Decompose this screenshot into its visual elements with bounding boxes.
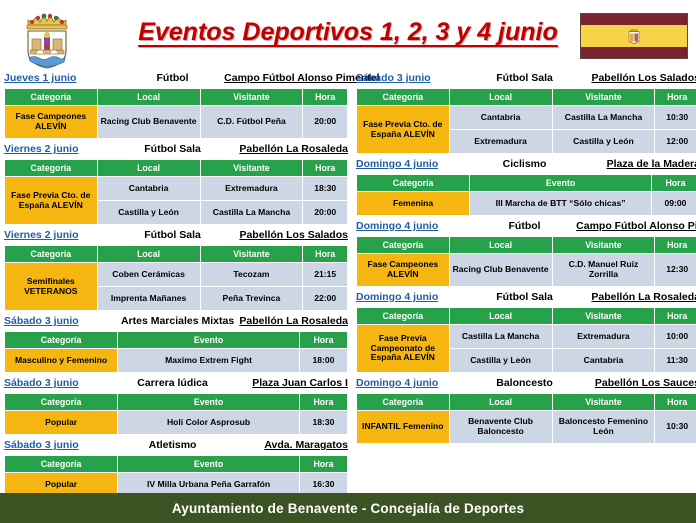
- section-date[interactable]: Domingo 4 junio: [356, 375, 473, 392]
- column-header-local: Local: [97, 160, 200, 177]
- table-header-row: CategoríaLocalVisitanteHora: [357, 308, 696, 325]
- section-sport: Fútbol Sala: [473, 70, 576, 87]
- poster-page: Eventos Deportivos 1, 2, 3 y 4 junio Jue…: [0, 0, 696, 523]
- column-header-categoria: Categoría: [357, 308, 450, 325]
- hora-cell: 20:00: [303, 106, 348, 139]
- table-header-row: CategoríaEventoHora: [5, 456, 348, 473]
- left-column: Jueves 1 junioFútbolCampo Fútbol Alonso …: [4, 70, 352, 499]
- section-venue[interactable]: Pabellón Los Salados: [224, 227, 348, 244]
- event-section: Domingo 4 junioFútbol SalaPabellón La Ro…: [356, 289, 696, 373]
- column-header-local: Local: [449, 394, 552, 411]
- column-header-categoria: Categoría: [5, 89, 98, 106]
- section-venue[interactable]: Pabellón Los Salados: [576, 70, 696, 87]
- visitante-cell: C.D. Manuel Ruiz Zorrilla: [552, 254, 655, 287]
- section-venue[interactable]: Pabellón La Rosaleda: [224, 141, 348, 158]
- table-header-row: CategoríaLocalVisitanteHora: [5, 160, 348, 177]
- column-header-categoria: Categoría: [357, 175, 470, 192]
- column-header-hora: Hora: [299, 456, 347, 473]
- section-sport: Fútbol: [121, 70, 224, 87]
- event-section: Sábado 3 junioAtletismoAvda. MaragatosCa…: [4, 437, 348, 497]
- event-table: CategoríaEventoHoraFemeninaIII Marcha de…: [356, 174, 696, 216]
- flag-band-red-bottom: [581, 47, 687, 58]
- section-header: Domingo 4 junioCiclismoPlaza de la Mader…: [356, 156, 696, 173]
- local-cell: Coben Cerámicas: [97, 263, 200, 287]
- event-table: CategoríaLocalVisitanteHoraFase Previa C…: [356, 88, 696, 154]
- poster-title: Eventos Deportivos 1, 2, 3 y 4 junio: [138, 18, 558, 47]
- visitante-cell: Cantabria: [552, 349, 655, 373]
- section-venue[interactable]: Campo Fútbol Alonso Pimentel: [224, 70, 348, 87]
- local-cell: Cantabria: [449, 106, 552, 130]
- column-header-hora: Hora: [299, 332, 347, 349]
- section-date[interactable]: Sábado 3 junio: [4, 375, 121, 392]
- section-header: Viernes 2 junioFútbol SalaPabellón La Ro…: [4, 141, 348, 158]
- hora-cell: 12:00: [655, 130, 696, 154]
- table-row: Fase Previa Cto. de España ALEVÍNCantabr…: [5, 177, 348, 201]
- poster-footer: Ayuntamiento de Benavente - Concejalía d…: [0, 493, 696, 523]
- column-header-hora: Hora: [303, 246, 348, 263]
- category-cell: INFANTIL Femenino: [357, 411, 450, 444]
- local-cell: Racing Club Benavente: [449, 254, 552, 287]
- section-header: Sábado 3 junioCarrera lúdicaPlaza Juan C…: [4, 375, 348, 392]
- spain-flag-icon: [580, 13, 688, 59]
- column-header-visitante: Visitante: [552, 237, 655, 254]
- event-section: Domingo 4 junioCiclismoPlaza de la Mader…: [356, 156, 696, 216]
- column-header-local: Local: [449, 308, 552, 325]
- column-header-visitante: Visitante: [552, 308, 655, 325]
- column-header-local: Local: [449, 237, 552, 254]
- column-header-categoria: Categoría: [357, 89, 450, 106]
- column-header-evento: Evento: [470, 175, 652, 192]
- section-header: Domingo 4 junioBaloncestoPabellón Los Sa…: [356, 375, 696, 392]
- section-header: Sábado 3 junioArtes Marciales MixtasPabe…: [4, 313, 348, 330]
- column-header-evento: Evento: [118, 332, 300, 349]
- section-header: Viernes 2 junioFútbol SalaPabellón Los S…: [4, 227, 348, 244]
- column-header-hora: Hora: [303, 160, 348, 177]
- column-header-visitante: Visitante: [200, 89, 303, 106]
- event-section: Jueves 1 junioFútbolCampo Fútbol Alonso …: [4, 70, 348, 139]
- section-header: Domingo 4 junioFútbolCampo Fútbol Alonso…: [356, 218, 696, 235]
- category-cell: Masculino y Femenino: [5, 349, 118, 373]
- local-cell: Extremadura: [449, 130, 552, 154]
- section-sport: Fútbol Sala: [121, 141, 224, 158]
- visitante-cell: Castilla La Mancha: [200, 201, 303, 225]
- category-cell: Fase Campeones ALEVÍN: [5, 106, 98, 139]
- footer-text: Ayuntamiento de Benavente - Concejalía d…: [172, 501, 524, 516]
- category-cell: Fase Previa Campeonato de España ALEVÍN: [357, 325, 450, 373]
- hora-cell: 18:30: [303, 177, 348, 201]
- table-row: Semifinales VETERANOSCoben CerámicasTeco…: [5, 263, 348, 287]
- event-table: CategoríaLocalVisitanteHoraFase Previa C…: [356, 307, 696, 373]
- section-sport: Atletismo: [121, 437, 224, 454]
- category-cell: Femenina: [357, 192, 470, 216]
- section-header: Jueves 1 junioFútbolCampo Fútbol Alonso …: [4, 70, 348, 87]
- hora-cell: 21:15: [303, 263, 348, 287]
- hora-cell: 10:00: [655, 325, 696, 349]
- section-date[interactable]: Domingo 4 junio: [356, 156, 473, 173]
- section-date[interactable]: Domingo 4 junio: [356, 289, 473, 306]
- visitante-cell: C.D. Fútbol Peña: [200, 106, 303, 139]
- event-table: CategoríaLocalVisitanteHoraFase Previa C…: [4, 159, 348, 225]
- visitante-cell: Peña Trevinca: [200, 287, 303, 311]
- event-table: CategoríaEventoHoraMasculino y FemeninoM…: [4, 331, 348, 373]
- section-header: Sábado 3 junioFútbol SalaPabellón Los Sa…: [356, 70, 696, 87]
- evento-cell: III Marcha de BTT “Sólo chicas”: [470, 192, 652, 216]
- event-section: Viernes 2 junioFútbol SalaPabellón Los S…: [4, 227, 348, 311]
- right-column: Sábado 3 junioFútbol SalaPabellón Los Sa…: [352, 70, 696, 499]
- event-section: Domingo 4 junioBaloncestoPabellón Los Sa…: [356, 375, 696, 444]
- section-venue[interactable]: Plaza de la Madera: [576, 156, 696, 173]
- table-header-row: CategoríaEventoHora: [357, 175, 696, 192]
- local-cell: Cantabria: [97, 177, 200, 201]
- column-header-hora: Hora: [303, 89, 348, 106]
- visitante-cell: Castilla La Mancha: [552, 106, 655, 130]
- visitante-cell: Tecozam: [200, 263, 303, 287]
- event-table: CategoríaEventoHoraPopularIV Milla Urban…: [4, 455, 348, 497]
- event-table: CategoríaLocalVisitanteHoraFase Campeone…: [4, 88, 348, 139]
- section-header: Domingo 4 junioFútbol SalaPabellón La Ro…: [356, 289, 696, 306]
- poster-columns: Jueves 1 junioFútbolCampo Fútbol Alonso …: [0, 70, 696, 499]
- visitante-cell: Castilla y León: [552, 130, 655, 154]
- table-header-row: CategoríaEventoHora: [5, 332, 348, 349]
- table-header-row: CategoríaLocalVisitanteHora: [5, 89, 348, 106]
- column-header-evento: Evento: [118, 394, 300, 411]
- hora-cell: 09:00: [651, 192, 696, 216]
- section-sport: Carrera lúdica: [121, 375, 224, 392]
- table-row: Fase Campeones ALEVÍNRacing Club Benaven…: [357, 254, 696, 287]
- table-row: Fase Previa Cto. de España ALEVÍNCantabr…: [357, 106, 696, 130]
- evento-cell: Holi Color Asprosub: [118, 411, 300, 435]
- event-table: CategoríaEventoHoraPopularHoli Color Asp…: [4, 393, 348, 435]
- hora-cell: 22:00: [303, 287, 348, 311]
- table-row: INFANTIL FemeninoBenavente Club Balonces…: [357, 411, 696, 444]
- visitante-cell: Extremadura: [552, 325, 655, 349]
- section-date[interactable]: Viernes 2 junio: [4, 141, 121, 158]
- column-header-hora: Hora: [655, 394, 696, 411]
- event-section: Sábado 3 junioArtes Marciales MixtasPabe…: [4, 313, 348, 373]
- table-row: Fase Campeones ALEVÍNRacing Club Benaven…: [5, 106, 348, 139]
- section-venue[interactable]: Pabellón La Rosaleda: [224, 313, 348, 330]
- section-date[interactable]: Sábado 3 junio: [4, 437, 121, 454]
- flag-band-yellow: [581, 25, 687, 47]
- column-header-local: Local: [449, 89, 552, 106]
- column-header-hora: Hora: [655, 89, 696, 106]
- table-header-row: CategoríaLocalVisitanteHora: [357, 237, 696, 254]
- section-sport: Artes Marciales Mixtas: [121, 313, 224, 330]
- event-section: Viernes 2 junioFútbol SalaPabellón La Ro…: [4, 141, 348, 225]
- section-date[interactable]: Sábado 3 junio: [4, 313, 121, 330]
- section-sport: Fútbol: [473, 218, 576, 235]
- category-cell: Semifinales VETERANOS: [5, 263, 98, 311]
- local-cell: Imprenta Mañanes: [97, 287, 200, 311]
- column-header-visitante: Visitante: [552, 394, 655, 411]
- event-section: Sábado 3 junioFútbol SalaPabellón Los Sa…: [356, 70, 696, 154]
- section-sport: Fútbol Sala: [473, 289, 576, 306]
- section-venue[interactable]: Plaza Juan Carlos I: [224, 375, 348, 392]
- category-cell: Fase Previa Cto. de España ALEVÍN: [5, 177, 98, 225]
- column-header-visitante: Visitante: [200, 160, 303, 177]
- event-table: CategoríaLocalVisitanteHoraINFANTIL Feme…: [356, 393, 696, 444]
- section-sport: Baloncesto: [473, 375, 576, 392]
- section-header: Sábado 3 junioAtletismoAvda. Maragatos: [4, 437, 348, 454]
- column-header-local: Local: [97, 246, 200, 263]
- column-header-visitante: Visitante: [200, 246, 303, 263]
- hora-cell: 18:30: [299, 411, 347, 435]
- local-cell: Castilla y León: [449, 349, 552, 373]
- event-table: CategoríaLocalVisitanteHoraSemifinales V…: [4, 245, 348, 311]
- section-venue[interactable]: Campo Fútbol Alonso Pimentel: [576, 218, 696, 235]
- table-header-row: CategoríaEventoHora: [5, 394, 348, 411]
- local-cell: Racing Club Benavente: [97, 106, 200, 139]
- table-row: FemeninaIII Marcha de BTT “Sólo chicas”0…: [357, 192, 696, 216]
- local-cell: Castilla y León: [97, 201, 200, 225]
- column-header-categoria: Categoría: [5, 246, 98, 263]
- column-header-categoria: Categoría: [5, 456, 118, 473]
- column-header-hora: Hora: [655, 308, 696, 325]
- table-header-row: CategoríaLocalVisitanteHora: [357, 394, 696, 411]
- category-cell: Fase Previa Cto. de España ALEVÍN: [357, 106, 450, 154]
- section-venue[interactable]: Pabellón Los Sauces: [576, 375, 696, 392]
- visitante-cell: Extremadura: [200, 177, 303, 201]
- hora-cell: 11:30: [655, 349, 696, 373]
- column-header-local: Local: [97, 89, 200, 106]
- event-section: Domingo 4 junioFútbolCampo Fútbol Alonso…: [356, 218, 696, 287]
- section-venue[interactable]: Avda. Maragatos: [224, 437, 348, 454]
- category-cell: Fase Campeones ALEVÍN: [357, 254, 450, 287]
- table-row: Masculino y FemeninoMaximo Extrem Fight1…: [5, 349, 348, 373]
- spain-coat-of-arms-icon: [626, 28, 642, 45]
- table-row: PopularHoli Color Asprosub18:30: [5, 411, 348, 435]
- table-header-row: CategoríaLocalVisitanteHora: [357, 89, 696, 106]
- column-header-categoria: Categoría: [357, 237, 450, 254]
- column-header-categoria: Categoría: [357, 394, 450, 411]
- section-date[interactable]: Sábado 3 junio: [356, 70, 473, 87]
- column-header-hora: Hora: [655, 237, 696, 254]
- section-sport: Ciclismo: [473, 156, 576, 173]
- event-section: Sábado 3 junioCarrera lúdicaPlaza Juan C…: [4, 375, 348, 435]
- column-header-hora: Hora: [651, 175, 696, 192]
- section-date[interactable]: Domingo 4 junio: [356, 218, 473, 235]
- table-header-row: CategoríaLocalVisitanteHora: [5, 246, 348, 263]
- section-date[interactable]: Viernes 2 junio: [4, 227, 121, 244]
- hora-cell: 18:00: [299, 349, 347, 373]
- column-header-categoria: Categoría: [5, 160, 98, 177]
- column-header-categoria: Categoría: [5, 332, 118, 349]
- hora-cell: 10:30: [655, 106, 696, 130]
- category-cell: Popular: [5, 411, 118, 435]
- column-header-hora: Hora: [299, 394, 347, 411]
- section-date[interactable]: Jueves 1 junio: [4, 70, 121, 87]
- local-cell: Benavente Club Baloncesto: [449, 411, 552, 444]
- column-header-evento: Evento: [118, 456, 300, 473]
- flag-band-red-top: [581, 14, 687, 25]
- section-venue[interactable]: Pabellón La Rosaleda: [576, 289, 696, 306]
- table-row: Fase Previa Campeonato de España ALEVÍNC…: [357, 325, 696, 349]
- section-sport: Fútbol Sala: [121, 227, 224, 244]
- evento-cell: Maximo Extrem Fight: [118, 349, 300, 373]
- local-cell: Castilla La Mancha: [449, 325, 552, 349]
- hora-cell: 10:30: [655, 411, 696, 444]
- hora-cell: 20:00: [303, 201, 348, 225]
- poster-header: Eventos Deportivos 1, 2, 3 y 4 junio: [0, 0, 696, 70]
- visitante-cell: Baloncesto Femenino León: [552, 411, 655, 444]
- column-header-categoria: Categoría: [5, 394, 118, 411]
- hora-cell: 12:30: [655, 254, 696, 287]
- event-table: CategoríaLocalVisitanteHoraFase Campeone…: [356, 236, 696, 287]
- column-header-visitante: Visitante: [552, 89, 655, 106]
